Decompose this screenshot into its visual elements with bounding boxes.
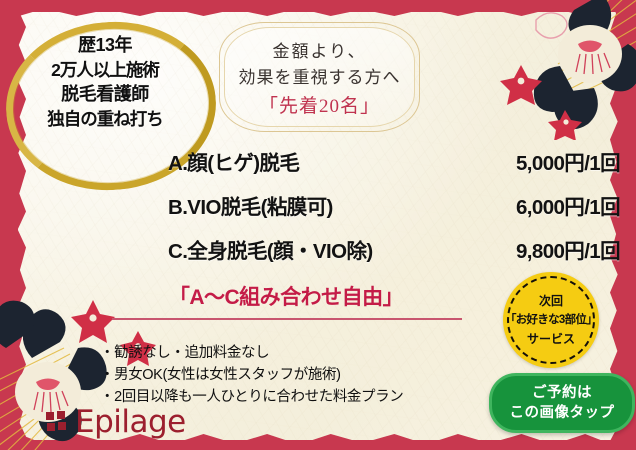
credential-line-4: 独自の重ね打ち — [8, 107, 202, 131]
combo-headline: 「A〜C組み合わせ自由」 — [100, 281, 472, 311]
frame-text-block: 金額より、 効果を重視する方へ 「先着20名」 — [219, 22, 420, 132]
reservation-cta-button[interactable]: ご予約は この画像タップ — [489, 373, 635, 433]
brand-logo: Epilage — [46, 404, 186, 440]
price-value-b: 6,000円/1回 — [516, 190, 620, 220]
next-badge-line-3: サービス — [527, 330, 575, 349]
cta-line-1: ご予約は — [532, 383, 592, 403]
ornate-frame-box: 金額より、 効果を重視する方へ 「先着20名」 — [219, 22, 420, 132]
price-row-b: B.VIO脱毛(粘膜可) 6,000円/1回 — [168, 190, 620, 234]
next-badge-line-2: 「お好きな3部位」 — [505, 311, 597, 330]
credential-line-2: 2万人以上施術 — [8, 58, 202, 82]
logo-squares-icon — [46, 411, 68, 433]
combo-underline — [112, 318, 462, 320]
frame-line-2: 効果を重視する方へ — [239, 63, 401, 88]
advertisement-banner: 歴13年 2万人以上施術 脱毛看護師 独自の重ね打ち 金額より、 効果を重視する… — [0, 0, 636, 450]
frame-line-1: 金額より、 — [273, 37, 367, 62]
price-value-a: 5,000円/1回 — [516, 146, 620, 176]
credential-text-block: 歴13年 2万人以上施術 脱毛看護師 独自の重ね打ち — [8, 33, 202, 131]
cta-line-2: この画像タップ — [510, 403, 615, 423]
price-row-a: A.顔(ヒゲ)脱毛 5,000円/1回 — [168, 146, 620, 190]
price-name-b: B.VIO脱毛(粘膜可) — [168, 190, 333, 220]
price-name-c: C.全身脱毛(顔・VIO除) — [168, 234, 373, 264]
price-list: A.顔(ヒゲ)脱毛 5,000円/1回 B.VIO脱毛(粘膜可) 6,000円/… — [168, 146, 620, 278]
next-badge-line-1: 次回 — [539, 292, 563, 311]
next-visit-service-badge: 次回 「お好きな3部位」 サービス — [503, 272, 599, 368]
price-name-a: A.顔(ヒゲ)脱毛 — [168, 146, 299, 176]
frame-limited-offer-text: 「先着20名」 — [259, 91, 380, 118]
benefit-bullet-list: ・勧誘なし・追加料金なし ・男女OK(女性は女性スタッフが施術) ・2回目以降も… — [100, 342, 520, 408]
credential-line-3: 脱毛看護師 — [8, 82, 202, 107]
credential-line-1: 歴13年 — [8, 33, 202, 58]
logo-wordmark: Epilage — [75, 404, 186, 440]
price-value-c: 9,800円/1回 — [516, 234, 620, 264]
bullet-item-2: ・男女OK(女性は女性スタッフが施術) — [100, 364, 520, 386]
bullet-item-1: ・勧誘なし・追加料金なし — [100, 342, 520, 364]
